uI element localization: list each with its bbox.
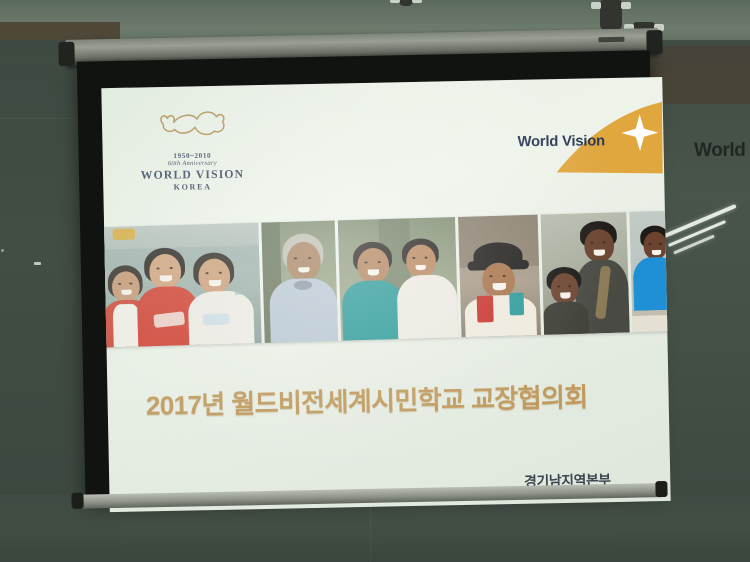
presentation-slide: 1950~2010 60th Anniversary WORLD VISION … [101, 77, 670, 512]
photo-panel [458, 215, 541, 338]
photo-strip [101, 211, 670, 348]
wall-sign-world-vision: World [694, 140, 745, 162]
photo-panel [629, 211, 670, 333]
double-heart-ribbon-icon [153, 106, 231, 141]
logo-anniversary: 60th Anniversary [121, 159, 264, 168]
world-vision-brand-logo: World Vision [511, 100, 665, 181]
wall-light-reflection [1, 249, 4, 252]
photo-panel [541, 212, 630, 335]
ceiling-speaker-icon [600, 0, 622, 30]
wall-seam [370, 500, 371, 562]
photo-panel [261, 221, 338, 343]
wall-light-reflection [34, 262, 41, 265]
world-vision-wordmark: World Vision [517, 133, 605, 150]
logo-country: KOREA [121, 181, 264, 192]
photo-panel [101, 223, 261, 348]
screen-bar-cap-left [71, 493, 83, 509]
screen-bar-cap-right [655, 481, 667, 497]
screen-roller-cap-left [58, 42, 74, 66]
photo-panel [338, 217, 459, 341]
room-scene: World 1950~2010 60th Anniversary WORLD V… [0, 0, 750, 562]
logo-organization: WORLD VISION [121, 168, 264, 183]
world-vision-korea-logo: 1950~2010 60th Anniversary WORLD VISION … [120, 106, 264, 192]
screen-border: 1950~2010 60th Anniversary WORLD VISION … [77, 50, 659, 499]
slide-title: 2017년 월드비전세계시민학교 교장협의회 [146, 375, 657, 423]
projector-screen[interactable]: 1950~2010 60th Anniversary WORLD VISION … [58, 28, 667, 510]
